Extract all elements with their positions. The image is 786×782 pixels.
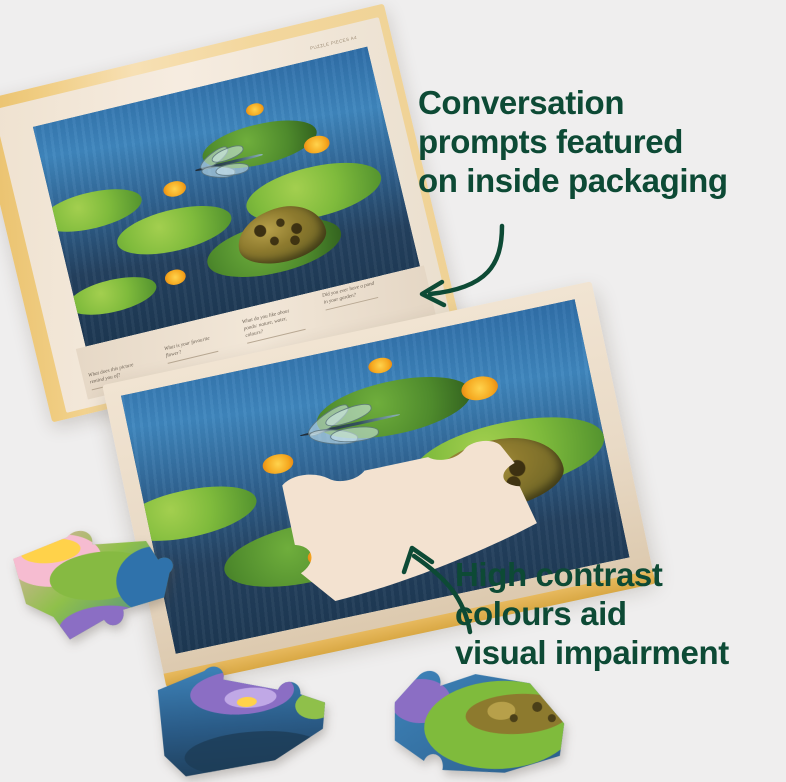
prompt-item: What is your favourite flower? [164, 334, 219, 364]
piece-shape [148, 652, 346, 782]
annotation-conversation-prompts-text: Conversation prompts featured on inside … [418, 84, 786, 201]
lily-centre [302, 134, 331, 156]
loose-piece-pink-lily[interactable] [4, 507, 197, 655]
lily-centre [162, 179, 188, 199]
lid-edge-label: PUZZLE PIECES A4 [310, 35, 358, 51]
screenshot-root: PUZZLE PIECES A4 [0, 0, 786, 782]
annotation-arrow-up [378, 520, 488, 635]
piece-shape [4, 507, 197, 655]
lily-centre [163, 268, 187, 287]
loose-piece-frog[interactable] [379, 659, 579, 782]
prompt-item: What do you like about ponds: nature, wa… [242, 305, 306, 343]
annotation-high-contrast-text: High contrast colours aid visual impairm… [455, 556, 786, 673]
lily-centre [245, 102, 265, 118]
loose-piece-purple-lily[interactable] [148, 652, 346, 782]
piece-shape [379, 659, 579, 782]
annotation-arrow-left [396, 222, 516, 312]
